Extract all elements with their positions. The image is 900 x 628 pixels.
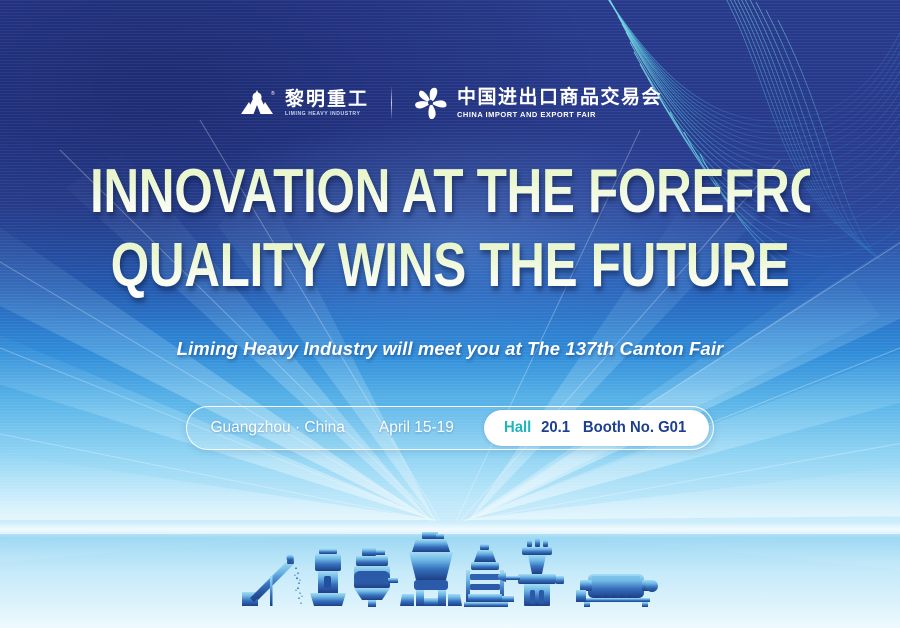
machine-silhouette-row — [0, 518, 900, 628]
event-dates: April 15-19 — [379, 419, 454, 437]
conveyor-belt-machine — [242, 555, 303, 607]
headline-line-2: QUALITY WINS THE FUTURE — [90, 229, 810, 303]
event-info-pill: Guangzhou · China April 15-19 Hall 20.1 … — [186, 406, 715, 450]
headline-line-1: INNOVATION AT THE FOREFRONT — [90, 155, 810, 229]
cone-crusher-machine — [310, 549, 346, 606]
machine-lineup — [240, 518, 660, 628]
impact-crusher-machine — [400, 532, 462, 606]
company-logo: ® 黎明重工 LIMING HEAVY INDUSTRY — [238, 88, 369, 118]
jaw-crusher-machine — [354, 548, 398, 607]
hall-number: 20.1 — [541, 419, 570, 437]
logo-row: ® 黎明重工 LIMING HEAVY INDUSTRY 中国进出口商 — [0, 86, 900, 120]
canton-fair-promo-banner: ® 黎明重工 LIMING HEAVY INDUSTRY 中国进出口商 — [0, 0, 900, 628]
canton-fair-logo: 中国进出口商品交易会 CHINA IMPORT AND EXPORT FAIR — [414, 87, 662, 119]
info-pill-wrapper: Guangzhou · China April 15-19 Hall 20.1 … — [0, 406, 900, 450]
headline: INNOVATION AT THE FOREFRONT QUALITY WINS… — [0, 155, 900, 303]
ball-mill-machine — [576, 574, 658, 607]
subtitle: Liming Heavy Industry will meet you at T… — [0, 338, 900, 360]
company-name-chinese: 黎明重工 — [285, 90, 369, 109]
company-name-english: LIMING HEAVY INDUSTRY — [285, 112, 371, 117]
logo-divider — [391, 86, 392, 120]
vibrating-screen-machine — [464, 544, 514, 607]
liming-triangle-mark: ® — [238, 88, 276, 118]
fair-name-english: CHINA IMPORT AND EXPORT FAIR — [457, 111, 662, 119]
hall-label: Hall — [504, 419, 531, 437]
fair-name-chinese: 中国进出口商品交易会 — [457, 88, 662, 107]
event-city: Guangzhou · China — [211, 419, 345, 437]
raymond-mill-machine — [498, 538, 564, 606]
booth-number: Booth No. G01 — [583, 419, 686, 437]
trademark-symbol: ® — [271, 90, 275, 97]
canton-fair-flower-mark — [414, 87, 448, 119]
booth-badge: Hall 20.1 Booth No. G01 — [484, 410, 710, 446]
